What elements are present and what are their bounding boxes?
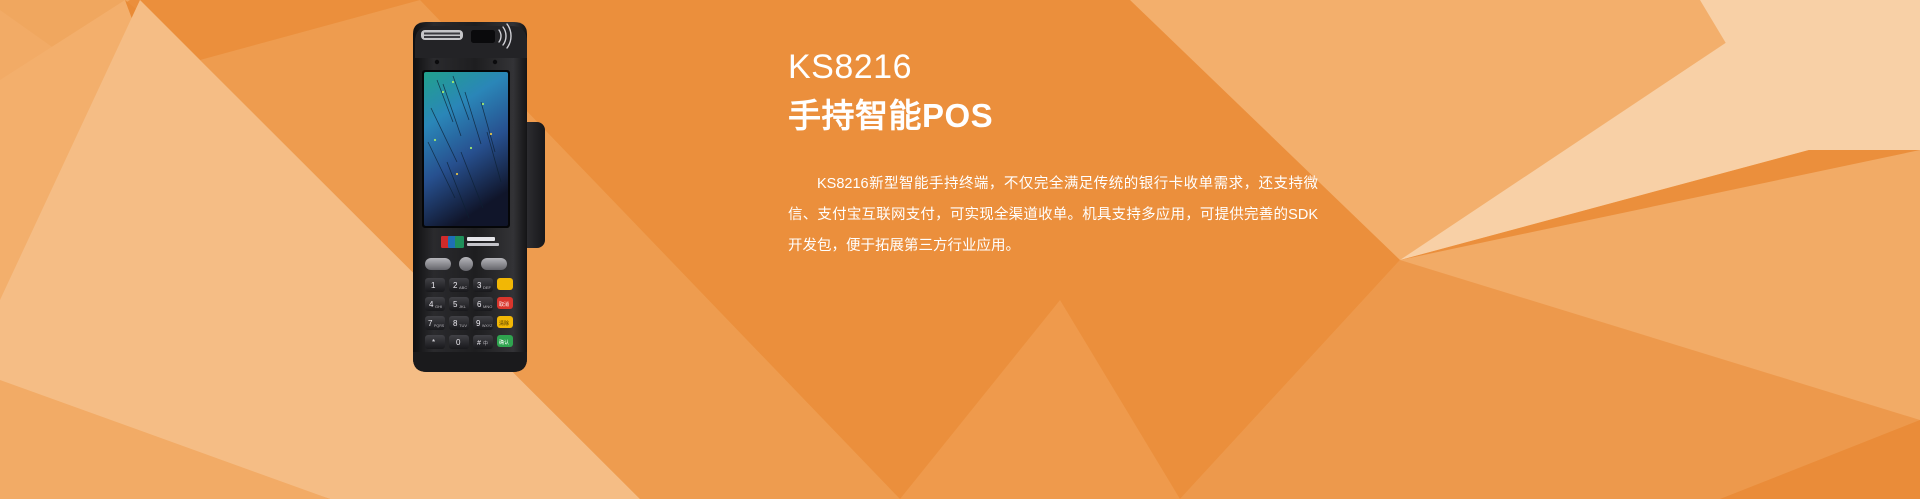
left-function-key[interactable] bbox=[425, 258, 451, 270]
svg-text:3: 3 bbox=[477, 281, 482, 290]
svg-text:1: 1 bbox=[431, 281, 436, 290]
svg-text:*: * bbox=[432, 338, 435, 347]
product-banner: 1 2 ABC 3 DEF 4 GHI 5 JKL 6 bbox=[0, 0, 1920, 499]
svg-text:JKL: JKL bbox=[459, 304, 467, 309]
svg-text:确认: 确认 bbox=[499, 339, 509, 346]
banner-content: 1 2 ABC 3 DEF 4 GHI 5 JKL 6 bbox=[0, 0, 1920, 499]
handheld-pos-device: 1 2 ABC 3 DEF 4 GHI 5 JKL 6 bbox=[395, 12, 570, 392]
power-key[interactable] bbox=[459, 257, 473, 271]
svg-text:PQRS: PQRS bbox=[434, 324, 445, 328]
svg-text:0: 0 bbox=[456, 338, 461, 347]
svg-text:7: 7 bbox=[428, 319, 433, 328]
svg-text:TUV: TUV bbox=[459, 323, 467, 328]
device-image-container: 1 2 ABC 3 DEF 4 GHI 5 JKL 6 bbox=[395, 12, 570, 392]
svg-text:9: 9 bbox=[476, 319, 481, 328]
svg-text:MNO: MNO bbox=[483, 304, 492, 309]
svg-text:清除: 清除 bbox=[499, 320, 509, 327]
product-text-block: KS8216 手持智能POS KS8216新型智能手持终端，不仅完全满足传统的银… bbox=[788, 46, 1328, 262]
svg-text:取消: 取消 bbox=[499, 301, 509, 308]
svg-text:5: 5 bbox=[453, 300, 458, 309]
svg-text:6: 6 bbox=[477, 300, 482, 309]
sensor-left bbox=[435, 60, 439, 64]
svg-text:中: 中 bbox=[483, 340, 488, 347]
product-description: KS8216新型智能手持终端，不仅完全满足传统的银行卡收单需求，还支持微信、支付… bbox=[788, 169, 1318, 262]
svg-text:ABC: ABC bbox=[459, 285, 467, 290]
scanner-window bbox=[471, 30, 495, 43]
page-title: 手持智能POS bbox=[788, 95, 1328, 138]
svg-text:8: 8 bbox=[453, 319, 458, 328]
product-model-name: KS8216 bbox=[788, 46, 1328, 89]
svg-text:DEF: DEF bbox=[483, 285, 492, 290]
svg-text:GHI: GHI bbox=[435, 304, 442, 309]
device-bottom-chin bbox=[413, 352, 527, 372]
svg-text:#: # bbox=[477, 340, 481, 347]
sensor-right bbox=[493, 60, 497, 64]
svg-text:4: 4 bbox=[429, 300, 434, 309]
svg-text:2: 2 bbox=[453, 281, 458, 290]
key-func-yellow-1[interactable] bbox=[497, 278, 513, 290]
right-function-key[interactable] bbox=[481, 258, 507, 270]
svg-text:WXYZ: WXYZ bbox=[482, 324, 493, 328]
device-top-label bbox=[421, 30, 463, 40]
